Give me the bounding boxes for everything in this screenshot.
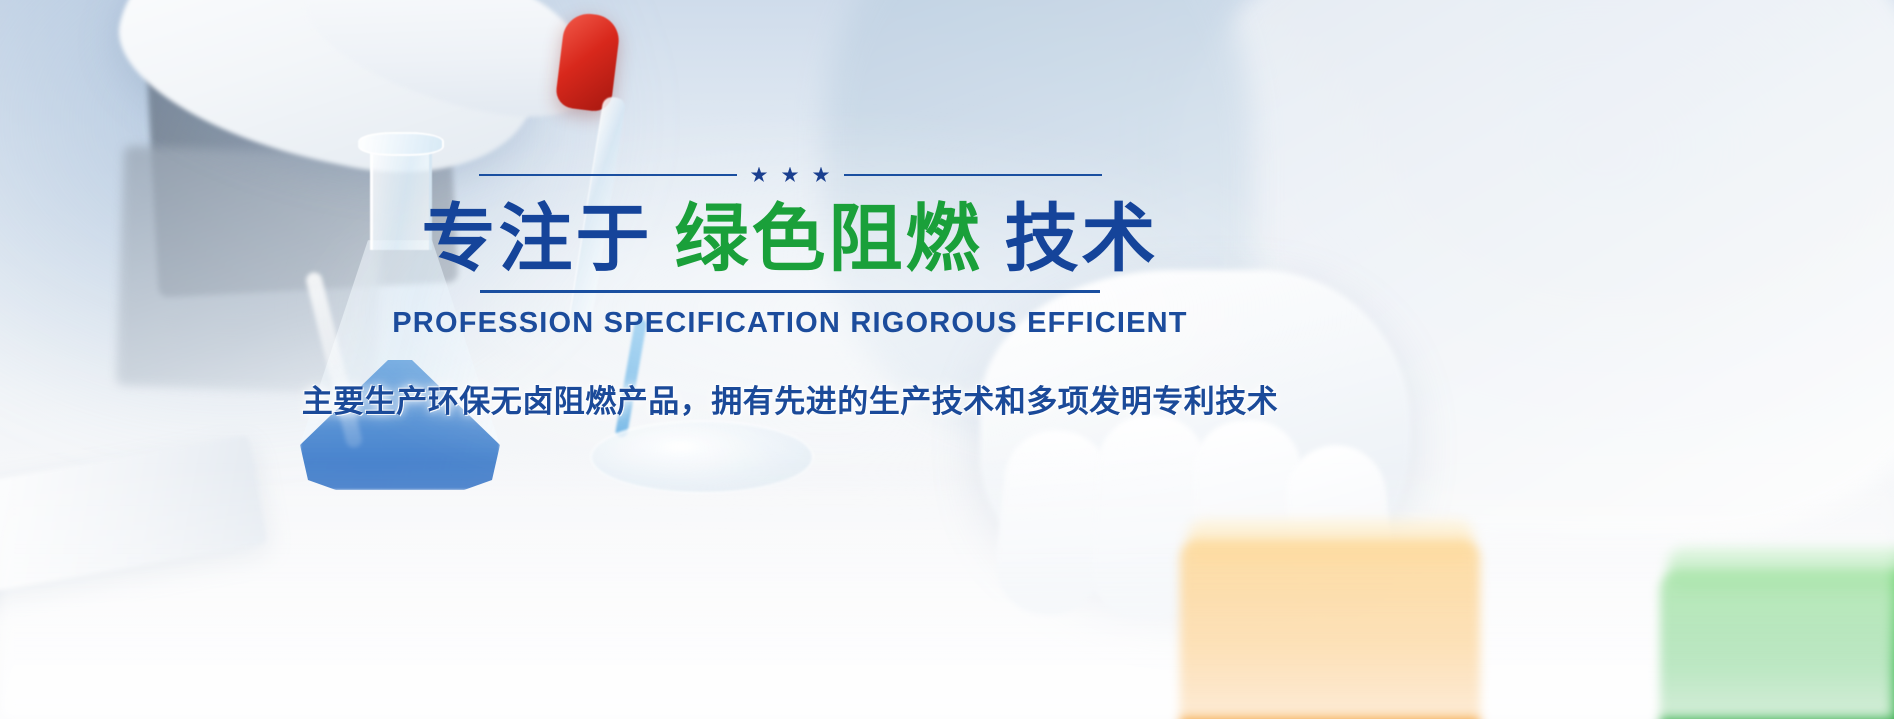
banner-title: 专注于绿色阻燃技术 (0, 200, 1580, 280)
hero-banner: 专注于绿色阻燃技术 PROFESSION SPECIFICATION RIGOR… (0, 0, 1894, 719)
star-icon (782, 167, 799, 184)
decorative-divider (0, 162, 1580, 188)
banner-content: 专注于绿色阻燃技术 PROFESSION SPECIFICATION RIGOR… (0, 162, 1580, 421)
star-group (751, 167, 830, 184)
title-underline (480, 290, 1100, 293)
title-part-3: 技术 (1005, 196, 1159, 282)
title-part-1: 专注于 (422, 196, 653, 282)
banner-tagline: 主要生产环保无卤阻燃产品，拥有先进的生产技术和多项发明专利技术 (0, 376, 1580, 421)
star-icon (751, 167, 768, 184)
banner-subtitle: PROFESSION SPECIFICATION RIGOROUS EFFICI… (0, 307, 1580, 340)
star-icon (813, 167, 830, 184)
divider-line-right (844, 174, 1102, 176)
divider-line-left (479, 174, 737, 176)
title-part-2: 绿色阻燃 (675, 196, 983, 282)
